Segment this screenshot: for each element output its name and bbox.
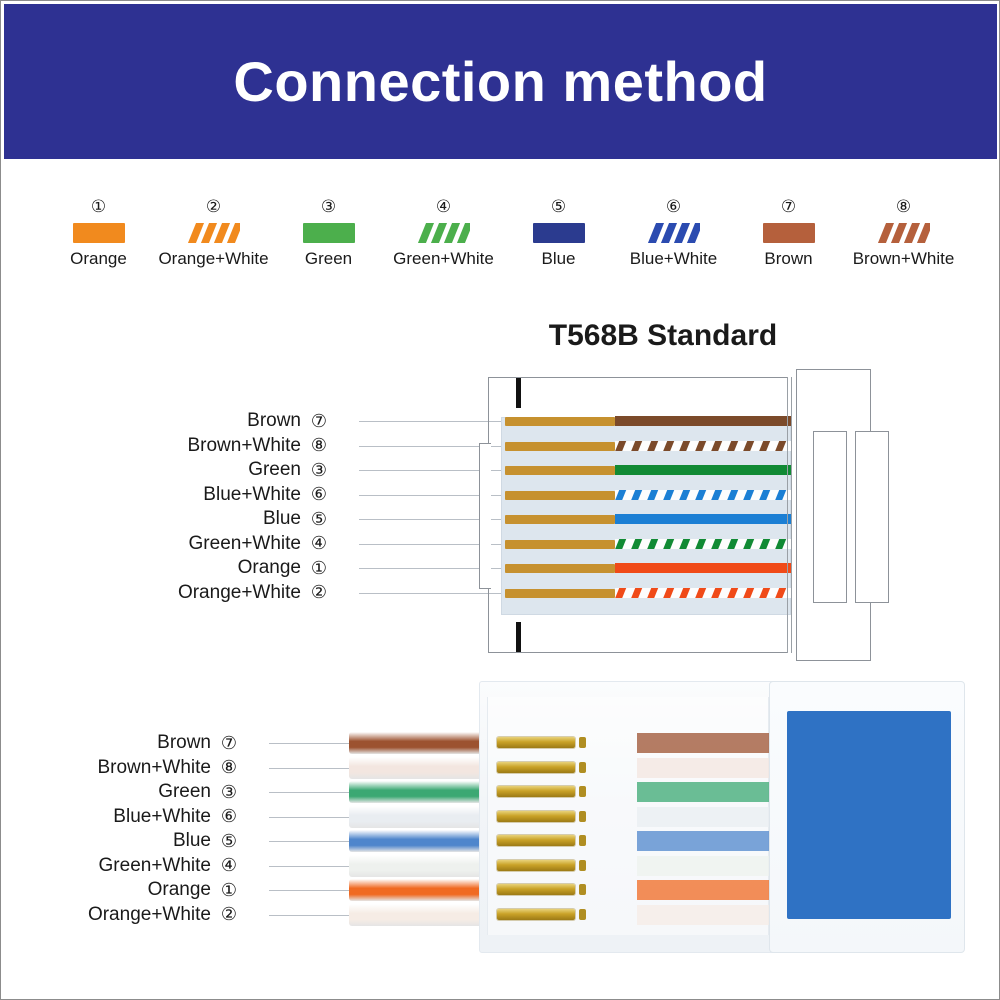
photo-wire-inside-plug [637,782,777,802]
blue-cable-jacket [787,711,951,919]
pinout-label-number: ④ [307,533,331,554]
leader-line [359,593,509,594]
wire-stripe [726,441,740,451]
wire-stripe [615,588,627,598]
schematic-wire [615,514,791,524]
legend-color-swatch [303,223,355,243]
photo-label-number: ⑦ [217,733,241,754]
wire-stripe [646,539,660,549]
gold-contact-pin [497,835,575,846]
wire-stripe [662,441,676,451]
contact-pin [505,589,615,598]
connector-tick-top [516,378,521,408]
jacket-hairline-1 [791,377,792,653]
photo-label-number: ④ [217,855,241,876]
pinout-label-number: ⑧ [307,435,331,456]
photo-label-number: ③ [217,782,241,803]
legend-item: ②Orange+White [156,197,271,269]
legend-item-number: ⑦ [781,197,796,219]
legend-item: ⑧Brown+White [846,197,961,269]
photo-label-text: Orange+White [88,904,211,926]
gold-contact-pin [497,909,575,920]
legend-item-label: Orange+White [158,249,268,269]
wire-stripe [694,441,708,451]
wire-stripe [742,588,756,598]
wire-stripe [678,588,692,598]
schematic-wire [615,539,791,549]
leader-line [269,841,361,842]
photo-label-number: ⑤ [217,831,241,852]
legend-item-number: ① [91,197,106,219]
contact-pin [505,417,615,426]
cable-jacket-slot-right [855,431,889,603]
wire-stripe [758,588,772,598]
wire-stripe [710,441,724,451]
wire-stripe [742,539,756,549]
legend-color-swatch [878,223,930,243]
cable-jacket-slot-left [813,431,847,603]
gold-contact-tip [579,835,586,846]
standard-title: T568B Standard [1,319,1000,353]
wire-stripe [662,490,676,500]
pinout-label-text: Green [248,459,301,481]
wire-stripe [615,441,627,451]
legend-item-label: Green [305,249,352,269]
photo-label-row: Green+White④ [31,854,241,878]
photo-label-text: Orange [148,879,211,901]
legend-color-swatch [418,223,470,243]
contact-pin [505,442,615,451]
pinout-label-text: Blue+White [203,484,301,506]
standard-title-text: T568B Standard [549,319,777,352]
leader-line [269,817,361,818]
wire-stripe [694,490,708,500]
photo-label-text: Brown [157,732,211,754]
wire-stripe [694,588,708,598]
legend-item-number: ⑥ [666,197,681,219]
legend-item: ⑦Brown [731,197,846,269]
photo-label-number: ① [217,880,241,901]
contact-pin [505,540,615,549]
legend-item-label: Green+White [393,249,494,269]
photo-wire-inside-plug [637,880,777,900]
gold-contact-pin [497,762,575,773]
gold-contact-pin [497,860,575,871]
leader-line [269,743,361,744]
photo-label-text: Blue+White [113,806,211,828]
wire-stripe [630,588,644,598]
wire-stripe [646,490,660,500]
page-title: Connection method [233,49,767,114]
photo-wire-inside-plug [637,758,777,778]
pinout-label-row: Brown⑦ [121,409,331,433]
legend-color-swatch [73,223,125,243]
photo-wire-inside-plug [637,905,777,925]
photo-label-number: ② [217,904,241,925]
legend-item: ④Green+White [386,197,501,269]
gold-contact-tip [579,811,586,822]
wire-stripe [630,490,644,500]
photo-label-number: ⑧ [217,757,241,778]
wire-stripe [694,539,708,549]
photo-wire-inside-plug [637,856,777,876]
legend-color-swatch [648,223,700,243]
pinout-label-row: Orange+White② [121,581,331,605]
jacket-hairline-2 [787,377,788,653]
pinout-label-text: Orange+White [178,582,301,604]
photo-wire-inside-plug [637,733,777,753]
legend-item-label: Blue+White [630,249,717,269]
legend-item-label: Blue [541,249,575,269]
wire-stripe [662,539,676,549]
pinout-label-number: ① [307,558,331,579]
wire-stripe [615,539,627,549]
pinout-label-number: ⑥ [307,484,331,505]
photo-wire [349,732,499,754]
contact-pin [505,515,615,524]
wire-stripe [710,588,724,598]
schematic-wire [615,441,791,451]
contact-pin [505,491,615,500]
wire-stripe [774,490,788,500]
legend-item-number: ④ [436,197,451,219]
photo-wire-inside-plug [637,831,777,851]
leader-line [269,890,361,891]
wire-stripe [662,588,676,598]
legend-item-label: Brown [764,249,812,269]
legend-item-number: ③ [321,197,336,219]
legend-item: ⑤Blue [501,197,616,269]
wire-stripe [774,588,788,598]
wire-stripe [710,490,724,500]
wire-stripe [646,588,660,598]
leader-line [269,792,361,793]
legend-item-number: ⑤ [551,197,566,219]
wire-stripe [726,490,740,500]
schematic-wire [615,490,791,500]
wire-stripe [630,441,644,451]
gold-contact-tip [579,786,586,797]
connector-photograph: Brown⑦Brown+White⑧Green③Blue+White⑥Blue⑤… [1,673,1000,973]
legend-item-number: ⑧ [896,197,911,219]
connector-notch [479,443,491,589]
photo-label-row: Brown+White⑧ [31,756,241,780]
photo-label-row: Green③ [31,780,241,804]
photo-label-row: Orange+White② [31,903,241,927]
pinout-label-text: Blue [263,508,301,530]
wire-stripe [630,539,644,549]
pinout-label-row: Orange① [121,556,331,580]
leader-line [359,421,509,422]
pinout-label-text: Brown [247,410,301,432]
wire-stripe [758,539,772,549]
pinout-label-text: Brown+White [187,435,301,457]
wire-stripe [742,441,756,451]
page-root: Connection method ①Orange②Orange+White③G… [0,0,1000,1000]
wire-stripe [615,490,627,500]
photo-label-row: Blue+White⑥ [31,805,241,829]
page-header: Connection method [4,4,997,159]
gold-contact-tip [579,737,586,748]
wire-color-legend: ①Orange②Orange+White③Green④Green+White⑤B… [41,197,961,293]
legend-item-label: Brown+White [853,249,955,269]
legend-item: ①Orange [41,197,156,269]
leader-line [269,866,361,867]
gold-contact-tip [579,860,586,871]
photo-label-text: Brown+White [97,757,211,779]
schematic-diagram: Brown⑦Brown+White⑧Green③Blue+White⑥Blue⑤… [1,369,1000,669]
schematic-wire [615,588,791,598]
gold-contact-pin [497,884,575,895]
pinout-label-number: ⑦ [307,411,331,432]
pinout-label-row: Green③ [121,458,331,482]
photo-label-text: Green+White [99,855,211,877]
photo-wire-inside-plug [637,807,777,827]
wire-stripe [678,490,692,500]
photo-label-row: Orange① [31,878,241,902]
wire-stripe [774,441,788,451]
pinout-label-text: Orange [238,557,301,579]
wire-stripe [726,588,740,598]
wire-stripe [710,539,724,549]
gold-contact-tip [579,762,586,773]
pinout-label-number: ③ [307,460,331,481]
pinout-label-row: Brown+White⑧ [121,434,331,458]
wire-stripe [758,490,772,500]
pinout-label-row: Blue⑤ [121,507,331,531]
wire-stripe [646,441,660,451]
photo-label-text: Blue [173,830,211,852]
pinout-label-text: Green+White [189,533,301,555]
gold-contact-pin [497,811,575,822]
schematic-wire [615,465,791,475]
leader-line [269,915,361,916]
pinout-label-row: Green+White④ [121,532,331,556]
wire-stripe [678,539,692,549]
legend-item-label: Orange [70,249,127,269]
photo-label-text: Green [158,781,211,803]
legend-color-swatch [188,223,240,243]
wire-stripe [758,441,772,451]
connector-tick-bottom [516,622,521,652]
gold-contact-pin [497,737,575,748]
legend-item: ⑥Blue+White [616,197,731,269]
wire-stripe [742,490,756,500]
wire-stripe [726,539,740,549]
contact-pin [505,564,615,573]
legend-color-swatch [763,223,815,243]
gold-contact-tip [579,884,586,895]
gold-contact-pin [497,786,575,797]
wire-stripe [774,539,788,549]
schematic-wire [615,416,791,426]
legend-item-number: ② [206,197,221,219]
photo-label-number: ⑥ [217,806,241,827]
pinout-label-number: ⑤ [307,509,331,530]
photo-label-row: Blue⑤ [31,829,241,853]
wire-stripe [678,441,692,451]
pinout-label-number: ② [307,582,331,603]
legend-item: ③Green [271,197,386,269]
pinout-label-row: Blue+White⑥ [121,483,331,507]
gold-contact-tip [579,909,586,920]
leader-line [269,768,361,769]
contact-pin [505,466,615,475]
photo-label-row: Brown⑦ [31,731,241,755]
legend-color-swatch [533,223,585,243]
schematic-wire [615,563,791,573]
